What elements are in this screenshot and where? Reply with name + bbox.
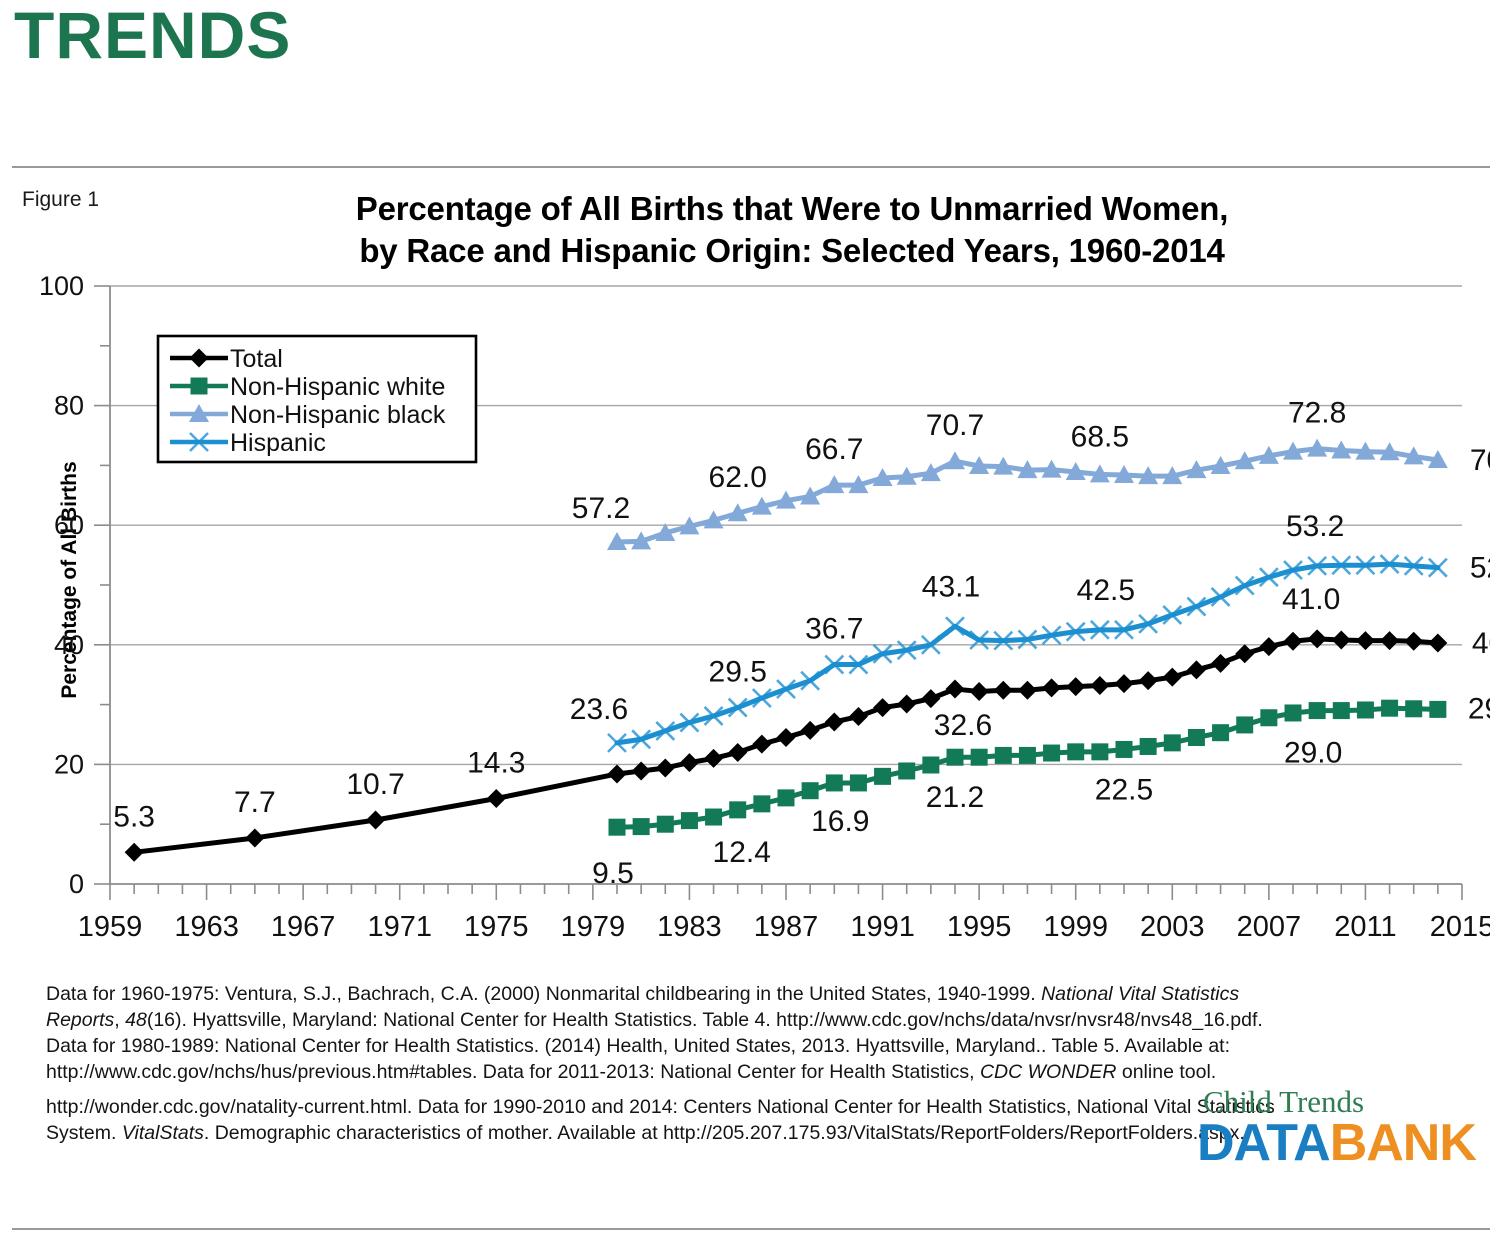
data-value-label: 32.6 — [934, 709, 992, 742]
x-tick-label: 1959 — [78, 911, 143, 943]
data-point-marker — [1018, 681, 1037, 700]
data-value-label: 42.5 — [1077, 574, 1135, 607]
data-point-marker — [1285, 704, 1302, 721]
data-point-marker — [366, 811, 385, 830]
data-point-marker — [921, 689, 940, 708]
data-point-marker — [1091, 743, 1108, 760]
data-point-marker — [825, 712, 844, 731]
logo-child-trends-text: Child Trends — [1203, 1086, 1482, 1117]
data-point-marker — [777, 728, 796, 747]
data-value-label: 41.0 — [1282, 583, 1340, 616]
data-point-marker — [873, 698, 892, 717]
y-tick-label: 60 — [54, 510, 84, 540]
y-tick-label: 40 — [54, 630, 84, 660]
data-value-label: 36.7 — [805, 613, 863, 646]
data-point-marker — [752, 735, 771, 754]
data-point-marker — [191, 378, 208, 395]
data-value-label: 21.2 — [926, 781, 984, 814]
data-point-marker — [1187, 660, 1206, 679]
y-tick-label: 20 — [54, 749, 84, 779]
data-value-label: 29.5 — [709, 656, 767, 689]
data-value-label: 43.1 — [922, 570, 980, 603]
data-series-group — [125, 439, 1448, 862]
data-point-marker — [753, 795, 770, 812]
x-tick-label: 1987 — [754, 911, 819, 943]
data-point-marker — [657, 816, 674, 833]
data-point-marker — [1332, 631, 1351, 650]
data-value-label: 12.4 — [713, 836, 771, 869]
data-value-label: 16.9 — [811, 805, 869, 838]
data-point-marker — [245, 828, 264, 847]
data-point-marker — [633, 818, 650, 835]
x-tick-label: 2011 — [1334, 911, 1396, 943]
data-point-marker — [946, 680, 965, 699]
data-point-marker — [1428, 634, 1447, 653]
data-point-marker — [1043, 745, 1060, 762]
data-point-marker — [125, 843, 144, 862]
data-point-marker — [826, 774, 843, 791]
source-paragraph-1: Data for 1960-1975: Ventura, S.J., Bachr… — [46, 982, 1286, 1086]
x-tick-label: 1967 — [271, 911, 336, 943]
data-point-marker — [1066, 677, 1085, 696]
y-tick-label: 80 — [54, 391, 84, 421]
data-point-marker — [850, 774, 867, 791]
logo-bank-text: BANK — [1330, 1114, 1476, 1172]
data-value-label: 68.5 — [1071, 420, 1129, 453]
source-p1-italic-2: 48 — [125, 1009, 147, 1031]
source-p2-italic-1: VitalStats — [122, 1122, 204, 1144]
source-p2-b: . Demographic characteristics of mother.… — [204, 1122, 1245, 1144]
x-tick-label: 2015 — [1430, 911, 1490, 943]
x-tick-label: 1979 — [561, 911, 626, 943]
data-point-marker — [1235, 644, 1254, 663]
data-point-marker — [729, 801, 746, 818]
data-value-label: 53.2 — [1286, 510, 1344, 543]
data-value-label: 10.7 — [346, 768, 404, 801]
data-point-marker — [1164, 734, 1181, 751]
data-point-marker — [728, 743, 747, 762]
legend-label: Non-Hispanic white — [230, 373, 445, 401]
data-point-marker — [1284, 632, 1303, 651]
trends-banner: TRENDS — [14, 0, 291, 74]
figure-label: Figure 1 — [22, 188, 99, 212]
source-notes: Data for 1960-1975: Ventura, S.J., Bachr… — [46, 982, 1286, 1156]
data-value-label: 23.6 — [570, 693, 628, 726]
data-point-marker — [898, 762, 915, 779]
data-point-marker — [1211, 654, 1230, 673]
data-point-marker — [1259, 637, 1278, 656]
data-point-marker — [922, 756, 939, 773]
source-paragraph-2: http://wonder.cdc.gov/natality-current.h… — [46, 1095, 1286, 1147]
x-tick-label: 1999 — [1043, 911, 1108, 943]
data-point-marker — [487, 789, 506, 808]
data-point-marker — [1139, 671, 1158, 690]
series-total — [125, 629, 1448, 861]
data-point-marker — [1405, 700, 1422, 717]
data-point-marker — [1116, 741, 1133, 758]
x-tick-label: 2003 — [1140, 911, 1205, 943]
logo-databank-text: DATABANK — [1197, 1117, 1482, 1170]
data-point-marker — [1019, 747, 1036, 764]
y-tick-labels: 020406080100 — [39, 276, 84, 899]
data-point-marker — [609, 819, 626, 836]
legend-label: Total — [230, 345, 283, 373]
source-p1-italic-3: CDC WONDER — [980, 1061, 1117, 1083]
source-p1-b: , — [114, 1009, 125, 1031]
figure-panel: Figure 1 Percentage of All Births that W… — [12, 166, 1490, 1230]
x-tick-label: 1975 — [464, 911, 529, 943]
child-trends-databank-logo: Child Trends DATABANK — [1197, 1086, 1482, 1170]
data-point-marker — [1212, 724, 1229, 741]
x-tick-label: 2007 — [1237, 911, 1302, 943]
data-value-label: 72.8 — [1288, 397, 1346, 430]
logo-data-text: DATA — [1197, 1114, 1330, 1172]
data-point-marker — [874, 768, 891, 785]
data-point-marker — [1090, 676, 1109, 695]
data-point-marker — [1404, 632, 1423, 651]
chart-title-line-1: Percentage of All Births that Were to Un… — [132, 188, 1452, 230]
data-point-marker — [681, 812, 698, 829]
data-point-marker — [897, 695, 916, 714]
data-value-label: 29.0 — [1284, 737, 1342, 770]
data-point-marker — [1067, 743, 1084, 760]
data-point-marker — [995, 747, 1012, 764]
data-value-label: 5.3 — [113, 800, 155, 833]
x-tick-label: 1971 — [367, 911, 432, 943]
y-tick-label: 0 — [69, 869, 84, 899]
data-point-marker — [849, 707, 868, 726]
data-value-label: 14.3 — [467, 746, 525, 779]
data-point-marker — [1309, 702, 1326, 719]
data-point-marker — [1042, 678, 1061, 697]
data-value-label: 70.9 — [1470, 444, 1490, 477]
data-point-marker — [680, 753, 699, 772]
line-chart-svg: 020406080100 195919631967197119751979198… — [12, 276, 1490, 956]
data-point-marker — [1429, 701, 1446, 718]
data-value-label: 62.0 — [709, 461, 767, 494]
data-value-label: 9.5 — [592, 857, 634, 890]
data-point-marker — [1380, 631, 1399, 650]
data-point-marker — [1236, 716, 1253, 733]
data-point-marker — [1333, 702, 1350, 719]
source-p1-d: online tool. — [1116, 1061, 1216, 1083]
data-point-marker — [778, 789, 795, 806]
data-point-marker — [947, 749, 964, 766]
data-point-marker — [705, 809, 722, 826]
data-value-label: 66.7 — [805, 433, 863, 466]
x-tick-label: 1983 — [657, 911, 722, 943]
legend-label: Non-Hispanic black — [230, 401, 446, 429]
data-point-marker — [970, 682, 989, 701]
data-point-marker — [1115, 674, 1134, 693]
data-point-marker — [608, 764, 627, 783]
data-point-marker — [1188, 729, 1205, 746]
data-value-label: 29.2 — [1468, 692, 1490, 725]
data-value-label: 7.7 — [234, 786, 276, 819]
y-tick-label: 100 — [39, 276, 84, 301]
data-point-marker — [1381, 700, 1398, 717]
plot-area: 020406080100 195919631967197119751979198… — [12, 276, 1490, 956]
data-value-label: 52.9 — [1470, 552, 1490, 585]
chart-legend: TotalNon-Hispanic whiteNon-Hispanic blac… — [158, 336, 476, 462]
data-point-marker — [971, 749, 988, 766]
data-value-label: 70.7 — [926, 409, 984, 442]
x-tick-label: 1991 — [850, 911, 915, 943]
data-point-marker — [1356, 631, 1375, 650]
x-tick-label: 1963 — [174, 911, 239, 943]
data-point-marker — [1357, 701, 1374, 718]
x-tick-label: 1995 — [947, 911, 1012, 943]
chart-title-line-2: by Race and Hispanic Origin: Selected Ye… — [132, 230, 1452, 272]
data-point-marker — [1140, 738, 1157, 755]
legend-label: Hispanic — [230, 429, 326, 457]
chart-title: Percentage of All Births that Were to Un… — [132, 188, 1452, 271]
source-p1-a: Data for 1960-1975: Ventura, S.J., Bachr… — [46, 983, 1041, 1005]
data-value-label: 57.2 — [572, 492, 630, 525]
data-point-marker — [994, 681, 1013, 700]
data-point-marker — [1163, 668, 1182, 687]
x-tick-labels: 1959196319671971197519791983198719911995… — [78, 911, 1490, 943]
data-point-marker — [801, 721, 820, 740]
data-point-marker — [1260, 709, 1277, 726]
data-value-label: 40.3 — [1472, 627, 1490, 660]
data-point-marker — [946, 617, 964, 635]
data-value-label: 22.5 — [1095, 773, 1153, 806]
data-point-marker — [656, 758, 675, 777]
data-point-marker — [802, 782, 819, 799]
